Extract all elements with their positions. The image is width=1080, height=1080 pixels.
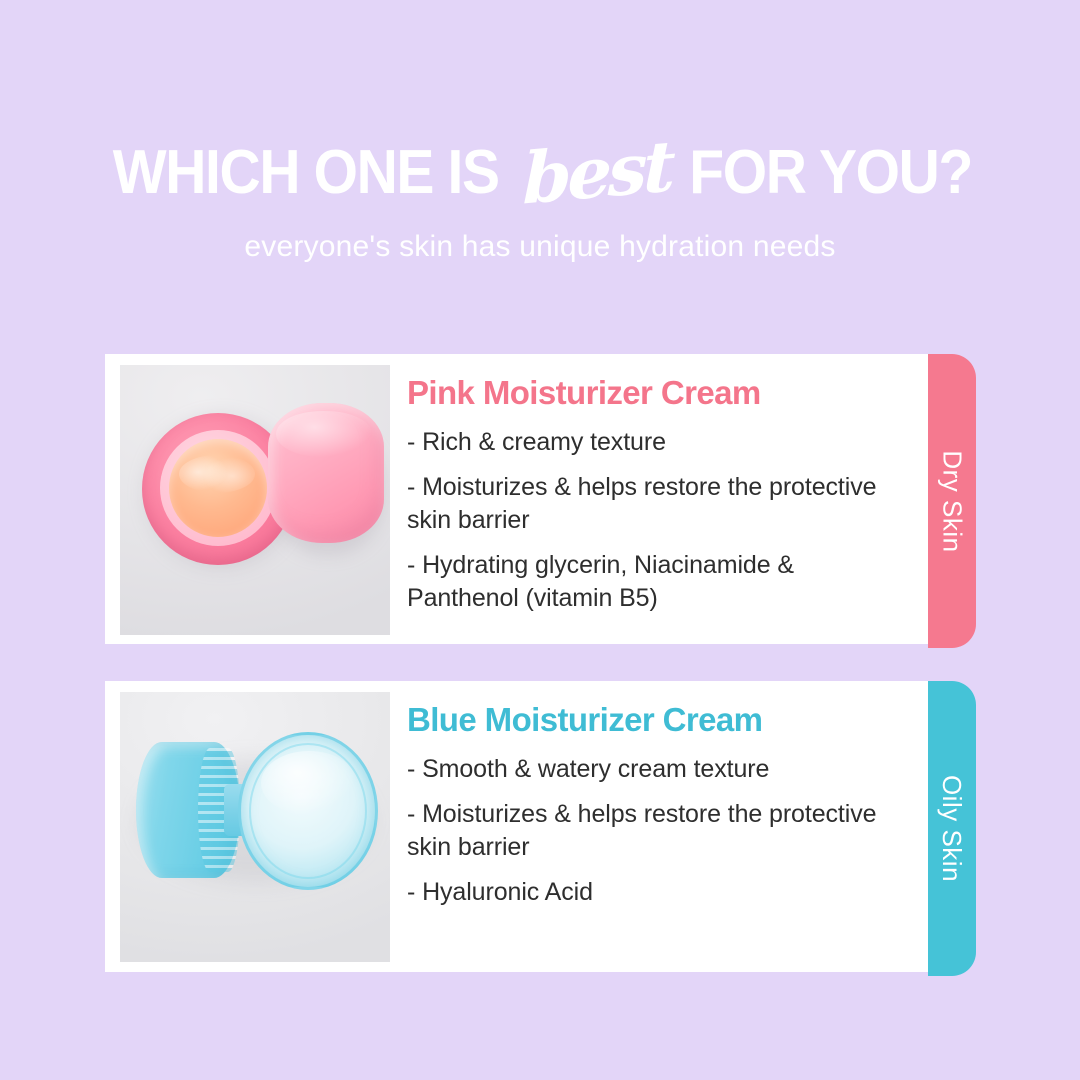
card-text-pink: Pink Moisturizer Cream - Rich & creamy t… xyxy=(390,354,930,615)
skin-type-tab-oily[interactable]: Oily Skin xyxy=(928,681,976,976)
skin-type-tab-dry[interactable]: Dry Skin xyxy=(928,354,976,648)
headline-text-before: WHICH ONE IS xyxy=(113,142,499,204)
product-card-pink[interactable]: Pink Moisturizer Cream - Rich & creamy t… xyxy=(105,354,930,644)
pink-jar-lid xyxy=(268,403,384,543)
list-item: - Hyaluronic Acid xyxy=(407,876,900,909)
skin-type-tab-label: Dry Skin xyxy=(937,450,968,552)
product-card-blue[interactable]: Blue Moisturizer Cream - Smooth & watery… xyxy=(105,681,930,972)
product-image-pink xyxy=(120,365,390,635)
product-title-pink: Pink Moisturizer Cream xyxy=(407,374,900,412)
list-item: - Moisturizes & helps restore the protec… xyxy=(407,471,900,537)
pink-cream-surface xyxy=(169,439,267,537)
product-title-blue: Blue Moisturizer Cream xyxy=(407,701,900,739)
header: WHICH ONE ISbestFOR YOU? everyone's skin… xyxy=(0,0,1080,330)
feature-list-blue: - Smooth & watery cream texture - Moistu… xyxy=(407,753,900,909)
card-text-blue: Blue Moisturizer Cream - Smooth & watery… xyxy=(390,681,930,909)
product-image-blue xyxy=(120,692,390,962)
list-item: - Moisturizes & helps restore the protec… xyxy=(407,798,900,864)
page-subtitle: everyone's skin has unique hydration nee… xyxy=(0,230,1080,264)
headline-text-after: FOR YOU? xyxy=(689,142,972,204)
list-item: - Rich & creamy texture xyxy=(407,426,900,459)
feature-list-pink: - Rich & creamy texture - Moisturizes & … xyxy=(407,426,900,615)
skin-type-tab-label: Oily Skin xyxy=(937,775,968,882)
page-title: WHICH ONE ISbestFOR YOU? xyxy=(0,134,1080,204)
headline-script-word: best xyxy=(516,131,678,215)
pink-jar-inner-rim xyxy=(160,430,276,546)
list-item: - Smooth & watery cream texture xyxy=(407,753,900,786)
blue-jar-base xyxy=(238,732,378,890)
list-item: - Hydrating glycerin, Niacinamide & Pant… xyxy=(407,549,900,615)
blue-jar-rim xyxy=(249,743,367,879)
